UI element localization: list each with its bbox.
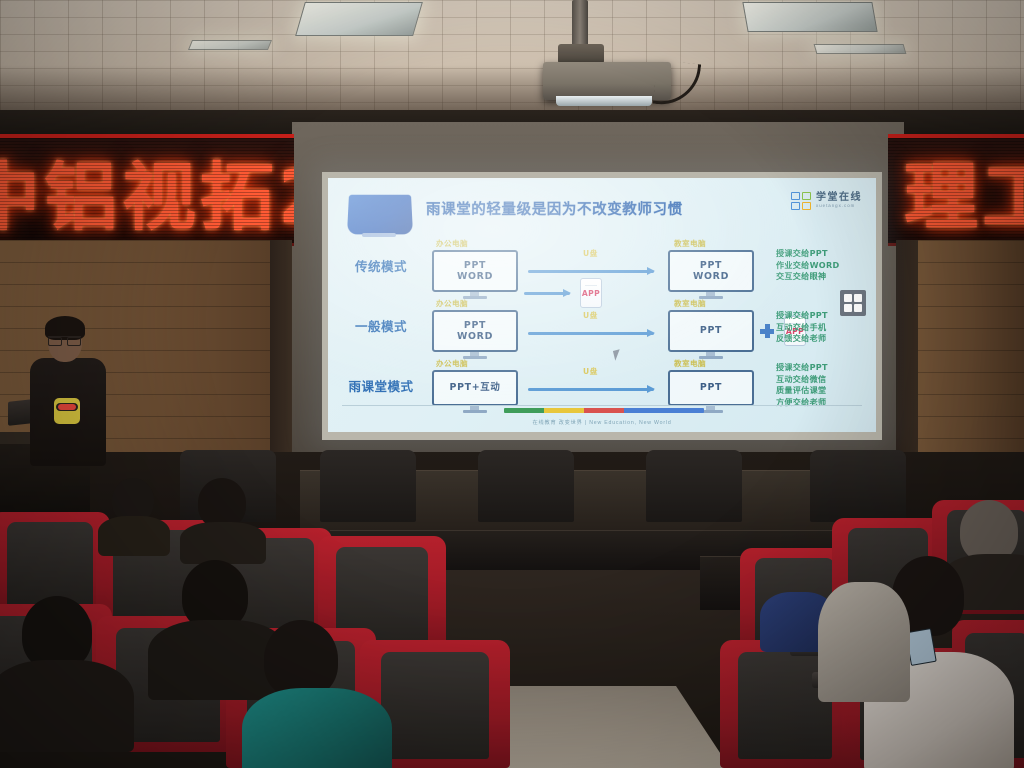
arrow-caption: U盘 (583, 248, 598, 259)
target-monitor: PPT WORD (668, 250, 754, 292)
monitor-line: PPT (700, 260, 722, 271)
projector-bracket (558, 44, 604, 64)
stage-chair (810, 450, 906, 522)
target-monitor: PPT (668, 370, 754, 406)
source-device-caption: 办公电脑 (436, 298, 468, 309)
monitor-line: WORD (457, 271, 493, 282)
slide-monitor-graphic-base (362, 233, 396, 237)
wall-wood-panel-right (904, 240, 1024, 480)
audience-member (818, 558, 888, 698)
led-banner-right-text: 理工大 (904, 137, 1024, 244)
phone-speaker (585, 282, 597, 286)
tshirt-graphic (54, 398, 80, 424)
slide-monitor-graphic-icon (347, 195, 413, 235)
ceiling (0, 0, 1024, 118)
brand-text: 学堂在线 xuetangx.com (816, 193, 862, 208)
led-banner-left-text: 中铝视拓2 (0, 137, 294, 244)
arrow-caption: U盘 (583, 310, 598, 321)
note-line: 互动交给微信 (776, 374, 868, 386)
target-device-caption: 教室电脑 (674, 358, 706, 369)
led-banner-left: 中铝视拓2 (0, 134, 294, 246)
note-line: 方便交给老师 (776, 397, 868, 409)
monitor-line: WORD (457, 331, 493, 342)
note-line: 授课交给PPT (776, 248, 868, 260)
audience-member (760, 582, 820, 652)
projector-lens (556, 96, 652, 106)
slide-content: 雨课堂的轻量级是因为不改变教师习惯 学堂在线 xuetangx.com 传统模式… (328, 178, 876, 432)
brand-mark-icon (791, 192, 811, 210)
source-monitor: PPT+互动 (432, 370, 518, 406)
note-line: 质量评估课堂 (776, 385, 868, 397)
led-banner-right: 理工大 (888, 134, 1024, 246)
projection-screen: 雨课堂的轻量级是因为不改变教师习惯 学堂在线 xuetangx.com 传统模式… (328, 178, 876, 432)
presenter (26, 312, 114, 512)
plus-icon (760, 324, 774, 338)
row-label: 一般模式 (338, 316, 424, 335)
stage-chair (320, 450, 416, 522)
slide-row-general: 一般模式 办公电脑 PPT WORD APP U盘 教室电脑 PPT (328, 300, 876, 358)
transfer-arrow (528, 270, 654, 273)
target-device-caption: 教室电脑 (674, 298, 706, 309)
brand-logo: 学堂在线 xuetangx.com (791, 192, 862, 210)
phone-label: APP (582, 289, 600, 298)
monitor-line: PPT (700, 382, 722, 393)
transfer-arrow (528, 332, 654, 335)
audience-member (4, 596, 114, 746)
wall-divider-left (270, 240, 292, 480)
target-device-caption: 教室电脑 (674, 238, 706, 249)
row-notes: 授课交给PPT 作业交给WORD 交互交给眼神 (776, 248, 868, 283)
ceiling-shadow (0, 0, 1024, 118)
monitor-stand (463, 410, 487, 413)
slide-color-bar (504, 408, 704, 413)
monitor-line: PPT (700, 325, 722, 336)
slide-footer-divider (342, 405, 862, 406)
transfer-arrow (528, 388, 654, 391)
source-monitor: PPT WORD (432, 250, 518, 292)
stage-chair (646, 450, 742, 522)
branch-arrow (524, 292, 570, 295)
slide-footer-text: 在线教育 改变世界 | New Education, New World (328, 419, 876, 426)
row-notes: 授课交给PPT 互动交给微信 质量评估课堂 方便交给老师 (776, 362, 868, 409)
glasses-icon (48, 336, 81, 343)
branch-app-phone: APP (580, 278, 602, 308)
target-monitor: PPT (668, 310, 754, 352)
note-line: 交互交给眼神 (776, 271, 868, 283)
audience-member (238, 620, 388, 768)
arrow-caption: U盘 (583, 366, 598, 377)
monitor-line: PPT (464, 260, 486, 271)
note-line: 作业交给WORD (776, 260, 868, 272)
wall-divider-right (896, 240, 918, 480)
note-line: 反馈交给老师 (776, 333, 868, 345)
row-label: 雨课堂模式 (338, 376, 424, 395)
row-label: 传统模式 (338, 256, 424, 275)
monitor-line: PPT+互动 (450, 382, 501, 393)
source-device-caption: 办公电脑 (436, 238, 468, 249)
audience-member (104, 478, 166, 548)
audience-member (188, 478, 258, 558)
note-line: 互动交给手机 (776, 322, 868, 334)
source-monitor: PPT WORD (432, 310, 518, 352)
projector-body (543, 62, 671, 100)
slide-row-traditional: 传统模式 办公电脑 PPT WORD U盘 教室电脑 PPT WORD (328, 240, 876, 298)
lecture-hall-scene: 中铝视拓2 理工大 雨课堂的轻量级是因为不改变教师习惯 学堂在线 xuetang… (0, 0, 1024, 768)
slide-title: 雨课堂的轻量级是因为不改变教师习惯 (426, 198, 683, 219)
brand-name-en: xuetangx.com (816, 204, 862, 209)
stage-chair (478, 450, 574, 522)
note-line: 授课交给PPT (776, 362, 868, 374)
source-device-caption: 办公电脑 (436, 358, 468, 369)
monitor-line: PPT (464, 320, 486, 331)
grid-menu-icon[interactable] (840, 290, 866, 316)
monitor-line: WORD (693, 271, 729, 282)
